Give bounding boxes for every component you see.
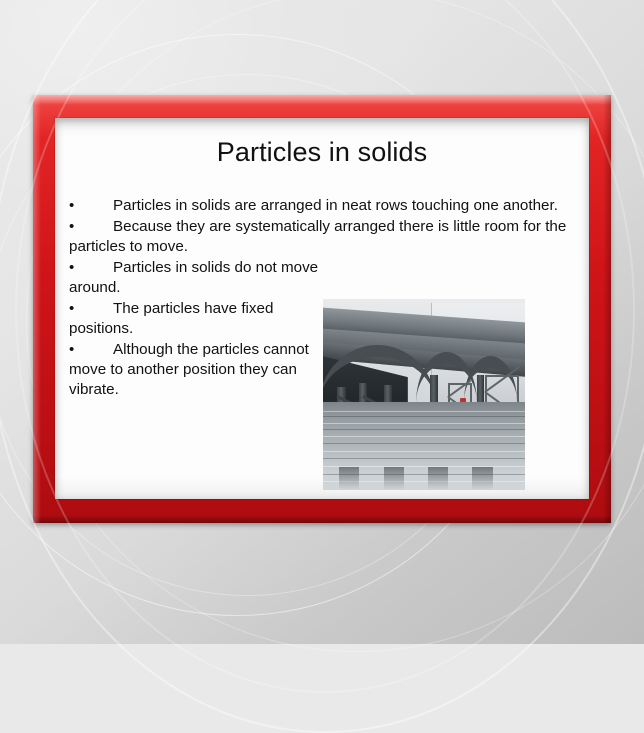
list-item: •Particles in solids do not move around.	[69, 258, 319, 298]
list-item: •Because they are systematically arrange…	[69, 217, 579, 257]
list-item: •Although the particles cannot move to a…	[69, 340, 319, 400]
list-item: •Particles in solids are arranged in nea…	[69, 196, 579, 216]
slide-content-area: Particles in solids •Particles in solids…	[55, 118, 589, 499]
bullet-marker-icon: •	[69, 258, 79, 278]
frame-bevel-right	[603, 95, 611, 523]
list-item: •The particles have fixed positions.	[69, 299, 319, 339]
bullet-marker-icon: •	[69, 196, 79, 216]
pier-bridge-photo	[323, 299, 525, 490]
list-item-label: Although the particles cannot move to an…	[69, 341, 309, 398]
list-item-label: Particles in solids do not move around.	[69, 259, 318, 296]
list-item-label: Because they are systematically arranged…	[69, 218, 566, 255]
list-item-label: The particles have fixed positions.	[69, 300, 273, 337]
frame-bevel-left	[33, 95, 41, 523]
frame-bevel-bottom	[33, 515, 611, 523]
bullet-marker-icon: •	[69, 299, 79, 319]
bullet-marker-icon: •	[69, 217, 79, 237]
poster: Particles in solids •Particles in solids…	[33, 95, 611, 523]
bullet-marker-icon: •	[69, 340, 79, 360]
page-title: Particles in solids	[55, 137, 589, 168]
frame-bevel-top	[33, 95, 611, 105]
list-item-label: Particles in solids are arranged in neat…	[113, 197, 558, 214]
poster-canvas: Particles in solids •Particles in solids…	[0, 0, 644, 644]
photo-water	[323, 402, 525, 490]
